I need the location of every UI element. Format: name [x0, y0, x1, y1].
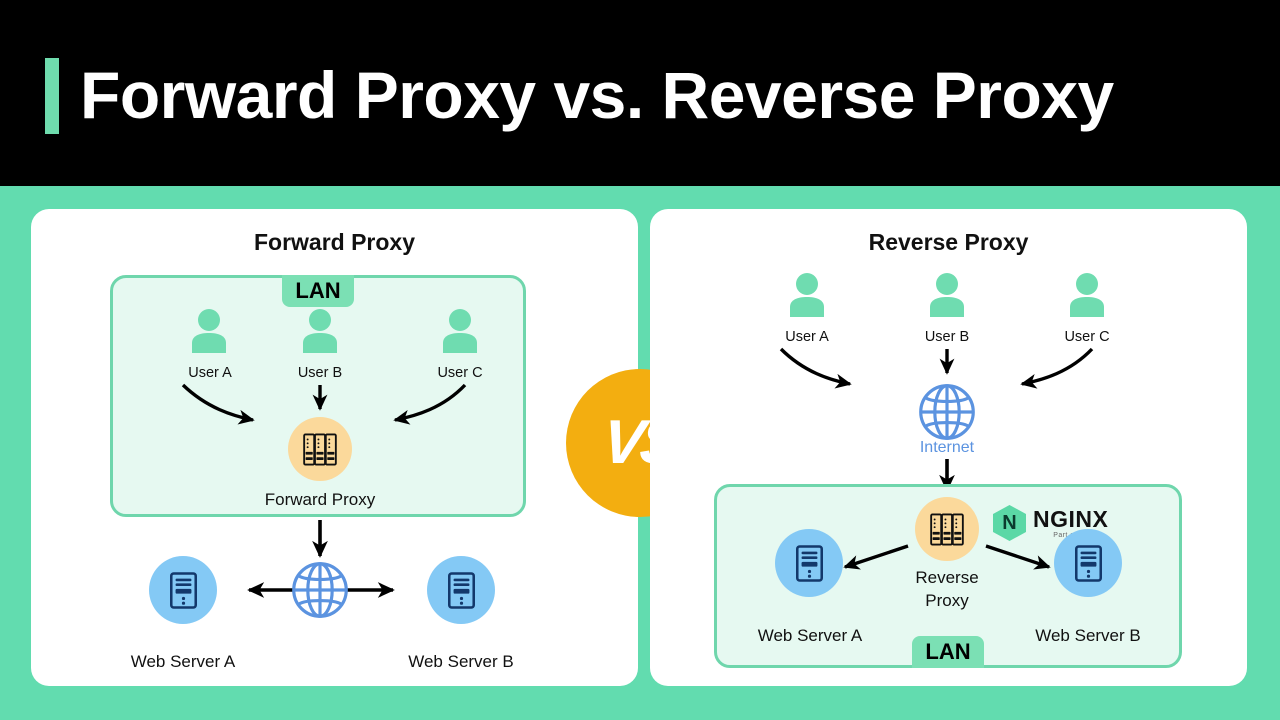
forward-proxy-panel: Forward Proxy LAN User A User B User C F…	[31, 209, 638, 686]
reverse-internet-globe-icon	[917, 382, 977, 442]
forward-web-server-a-label: Web Server A	[103, 653, 263, 671]
forward-user-b-icon	[300, 309, 340, 353]
nginx-hexagon-icon: N	[993, 505, 1026, 541]
reverse-proxy-panel: Reverse Proxy User A User B User C Inter…	[650, 209, 1247, 686]
reverse-proxy-label-line1: Reverse	[915, 568, 978, 587]
reverse-web-server-a-label: Web Server A	[730, 627, 890, 645]
title-accent-bar	[45, 58, 59, 134]
reverse-proxy-label-line2: Proxy	[925, 591, 968, 610]
title-bar: Forward Proxy vs. Reverse Proxy	[0, 0, 1280, 186]
forward-internet-globe-icon	[290, 560, 350, 620]
forward-proxy-panel-title: Forward Proxy	[31, 229, 638, 256]
forward-web-server-b-icon	[427, 556, 495, 624]
page-title: Forward Proxy vs. Reverse Proxy	[80, 50, 1114, 140]
infographic-canvas: Forward Proxy vs. Reverse Proxy Forward …	[0, 0, 1280, 720]
forward-web-server-b-label: Web Server B	[381, 653, 541, 671]
forward-proxy-icon	[288, 417, 352, 481]
reverse-proxy-panel-title: Reverse Proxy	[650, 229, 1247, 256]
reverse-user-a-label: User A	[727, 328, 887, 346]
reverse-web-server-b-icon	[1054, 529, 1122, 597]
reverse-proxy-node-label: Reverse Proxy	[867, 566, 1027, 612]
reverse-user-c-icon	[1067, 273, 1107, 317]
reverse-user-c-label: User C	[1007, 328, 1167, 346]
forward-user-c-icon	[440, 309, 480, 353]
reverse-user-a-icon	[787, 273, 827, 317]
forward-user-b-label: User B	[240, 364, 400, 382]
reverse-web-server-a-icon	[775, 529, 843, 597]
forward-web-server-a-icon	[149, 556, 217, 624]
forward-proxy-node-label: Forward Proxy	[240, 491, 400, 509]
forward-user-a-icon	[189, 309, 229, 353]
reverse-proxy-icon	[915, 497, 979, 561]
reverse-user-b-label: User B	[867, 328, 1027, 346]
reverse-internet-label: Internet	[867, 439, 1027, 457]
forward-user-c-label: User C	[380, 364, 540, 382]
nginx-name: NGINX	[1033, 508, 1108, 531]
reverse-lan-tab: LAN	[912, 636, 984, 668]
forward-lan-tab: LAN	[282, 275, 354, 307]
reverse-user-b-icon	[927, 273, 967, 317]
reverse-web-server-b-label: Web Server B	[1008, 627, 1168, 645]
